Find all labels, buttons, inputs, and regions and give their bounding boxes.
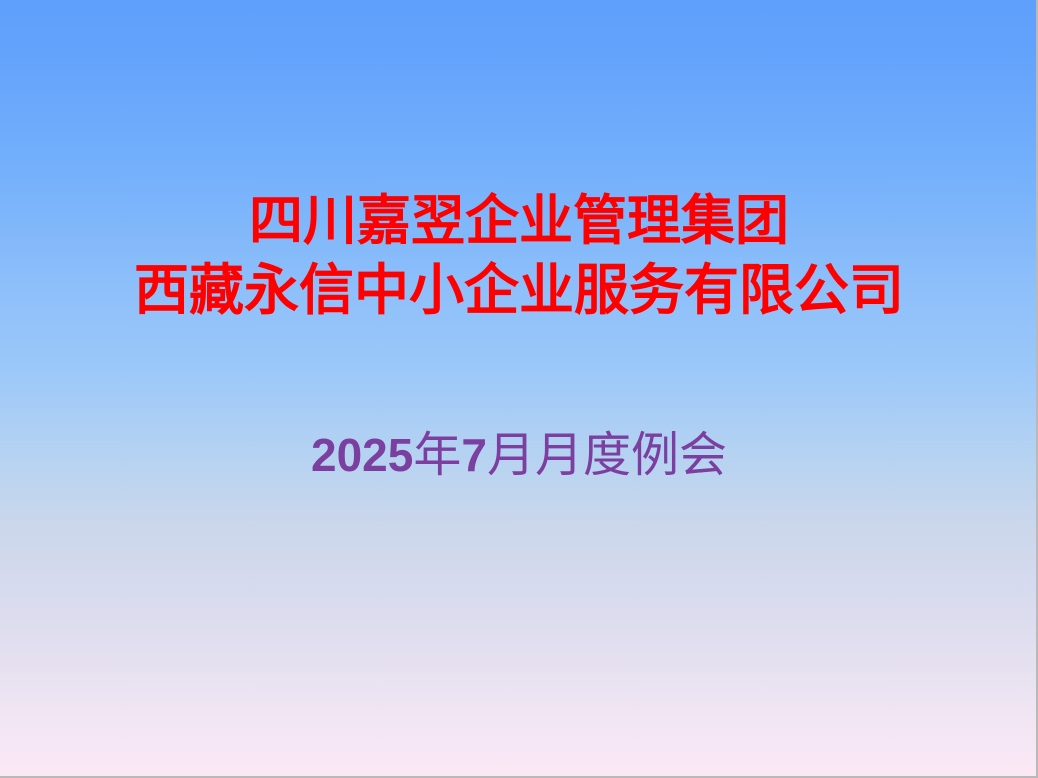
- slide-title: 四川嘉翌企业管理集团 西藏永信中小企业服务有限公司: [0, 186, 1038, 326]
- subtitle-year-unit: 年: [413, 429, 461, 482]
- subtitle-month-label: 月月度例会: [487, 429, 727, 482]
- slide-content: 四川嘉翌企业管理集团 西藏永信中小企业服务有限公司 2025年7月月度例会: [0, 0, 1038, 778]
- title-line-1: 四川嘉翌企业管理集团: [0, 186, 1038, 256]
- subtitle-year-number: 2025: [311, 429, 413, 481]
- title-line-2: 西藏永信中小企业服务有限公司: [0, 256, 1038, 326]
- slide-canvas: 四川嘉翌企业管理集团 西藏永信中小企业服务有限公司 2025年7月月度例会: [0, 0, 1038, 778]
- subtitle-line: 2025年7月月度例会: [0, 422, 1038, 489]
- subtitle-month-number: 7: [461, 429, 487, 481]
- slide-subtitle: 2025年7月月度例会: [0, 422, 1038, 489]
